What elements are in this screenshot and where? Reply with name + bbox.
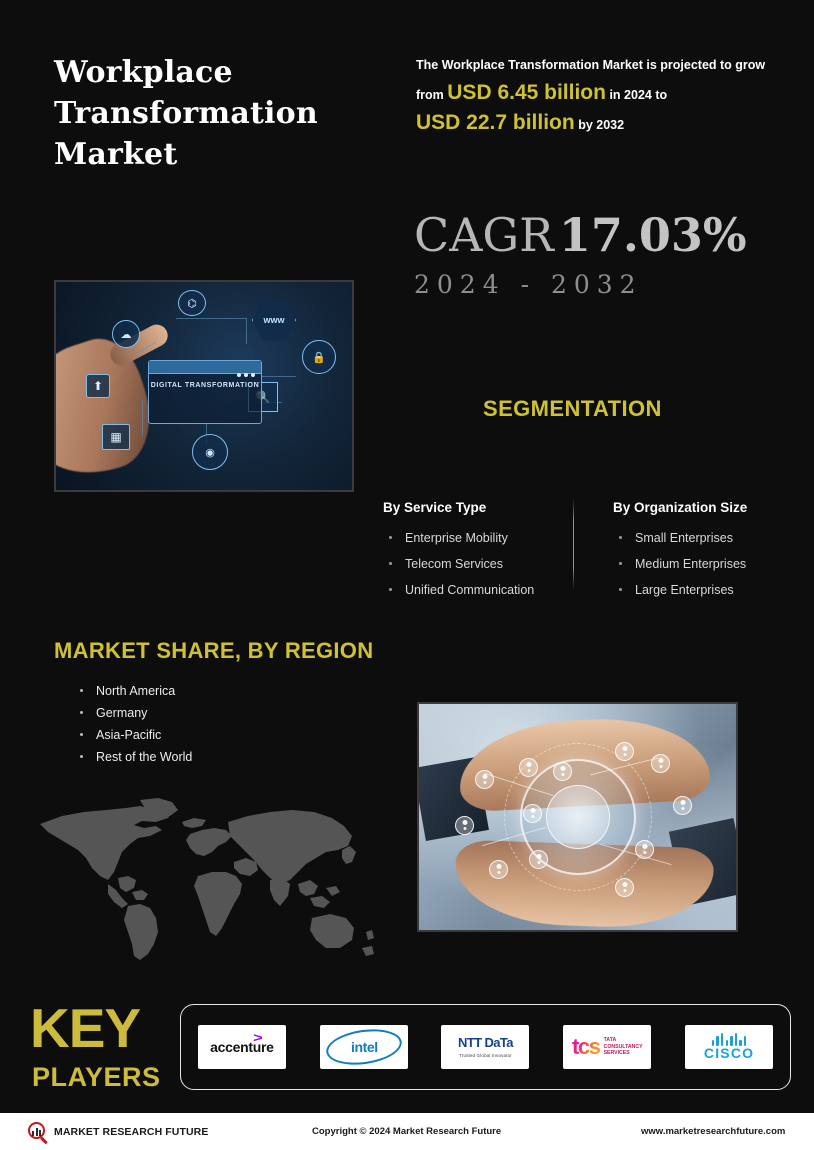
intro-line-1: The Workplace Transformation Market is p… [416,57,791,74]
ntt-wordmark: NTT DaTa [458,1035,513,1050]
tcs-line-3: SERVICES [604,1050,643,1056]
infographic-page: Workplace Transformation Market The Work… [0,0,814,1150]
connector-line [246,318,247,344]
website-url[interactable]: www.marketresearchfuture.com [641,1126,785,1137]
footer: MARKET RESEARCH FUTURE Copyright © 2024 … [0,1113,814,1150]
magnifier-chart-icon [28,1122,48,1142]
connector-line [176,318,246,319]
list-item: Rest of the World [74,746,192,768]
cisco-wordmark: CISCO [704,1045,754,1061]
intel-wordmark: intel [350,1039,377,1055]
market-share-heading: MARKET SHARE, BY REGION [54,638,373,664]
list-item: Medium Enterprises [613,551,793,577]
person-node-icon [651,754,670,773]
person-node-icon [523,804,542,823]
satellite-node-icon: ◉ [192,434,228,470]
logo-accenture[interactable]: > accenture [198,1025,286,1069]
intro-line-3: USD 22.7 billion by 2032 [416,112,791,136]
person-node-icon [455,816,474,835]
logo-intel[interactable]: intel [320,1025,408,1069]
region-list: North America Germany Asia-Pacific Rest … [74,680,192,768]
intel-oval-icon: intel [324,1025,404,1069]
brain-node-icon: ⌬ [178,290,206,316]
logo-tcs[interactable]: tcs TATA CONSULTANCY SERVICES [563,1025,651,1069]
cisco-bars-icon [704,1033,754,1046]
list-item: Large Enterprises [613,577,793,603]
cagr-label: CAGR [414,208,554,262]
upload-node-icon: ⬆ [86,374,110,398]
list-item: Germany [74,702,192,724]
www-label: www [263,315,284,325]
connector-line [142,400,143,436]
person-node-icon [673,796,692,815]
world-map-svg [22,792,398,968]
person-node-icon [615,742,634,761]
cagr-line: CAGR 17.03% [414,212,794,258]
cagr-block: CAGR 17.03% 2024 - 2032 [414,212,794,299]
person-node-icon [635,840,654,859]
segmentation-heading: SEGMENTATION [483,396,662,422]
list-item: Telecom Services [383,551,568,577]
person-node-icon [615,878,634,897]
cagr-value: 17.03% [559,208,747,262]
person-node-icon [529,850,548,869]
digital-transformation-image: ☁ ⬆ ▦ www 🔒 🔍 ◉ ⌬ DIGITAL TRANSFORMATION [54,280,354,492]
organization-size-list: Small Enterprises Medium Enterprises Lar… [613,525,793,603]
person-node-icon [489,860,508,879]
logo-ntt-data[interactable]: NTT DaTa Trusted Global Innovator [441,1025,529,1069]
intro-line-2: from USD 6.45 billion in 2024 to [416,82,791,106]
ntt-tagline: Trusted Global Innovator [458,1054,513,1059]
market-value-2032: USD 22.7 billion [416,111,575,134]
list-item: Enterprise Mobility [383,525,568,551]
market-value-2024: USD 6.45 billion [447,81,606,104]
person-node-icon [553,762,572,781]
segmentation-column-service-type: By Service Type Enterprise Mobility Tele… [383,500,568,603]
connector-line [262,376,296,377]
person-node-icon [519,758,538,777]
browser-panel: DIGITAL TRANSFORMATION [148,360,262,424]
column-heading: By Organization Size [613,500,793,515]
chip-node-icon: ▦ [102,424,130,450]
panel-titlebar [149,361,261,374]
key-players-heading-line1: KEY [30,1000,140,1056]
cagr-period: 2024 - 2032 [414,270,794,299]
intro-end-label: by 2032 [578,118,624,132]
key-players-heading-line2: PLAYERS [32,1062,161,1092]
accenture-arrow-icon: > [253,1030,262,1045]
world-map [22,792,398,968]
list-item: Unified Communication [383,577,568,603]
person-node-icon [475,770,494,789]
accenture-wordmark: accenture [210,1039,273,1055]
page-title: Workplace Transformation Market [54,52,384,175]
segmentation-columns: By Service Type Enterprise Mobility Tele… [383,500,793,604]
intro-mid-label: in 2024 to [609,88,667,102]
list-item: Small Enterprises [613,525,793,551]
digital-transformation-caption: DIGITAL TRANSFORMATION [149,381,261,391]
hands-globe-image [417,702,738,932]
copyright-text: Copyright © 2024 Market Research Future [312,1126,501,1137]
key-players-logo-box: > accenture intel NTT DaTa Trusted Globa… [180,1004,791,1090]
list-item: North America [74,680,192,702]
list-item: Asia-Pacific [74,724,192,746]
segmentation-column-organization-size: By Organization Size Small Enterprises M… [613,500,793,603]
market-intro: The Workplace Transformation Market is p… [416,57,791,136]
brand-logo[interactable]: MARKET RESEARCH FUTURE [28,1122,208,1142]
intro-from-label: from [416,88,444,102]
security-lock-node-icon: 🔒 [302,340,336,374]
logo-cisco[interactable]: CISCO [685,1025,773,1069]
www-node-icon: www [252,298,296,342]
column-heading: By Service Type [383,500,568,515]
panel-dots [234,364,255,382]
brand-name: MARKET RESEARCH FUTURE [54,1126,208,1138]
tcs-wordmark: tcs [572,1036,600,1058]
service-type-list: Enterprise Mobility Telecom Services Uni… [383,525,568,603]
cloud-node-icon: ☁ [112,320,140,348]
